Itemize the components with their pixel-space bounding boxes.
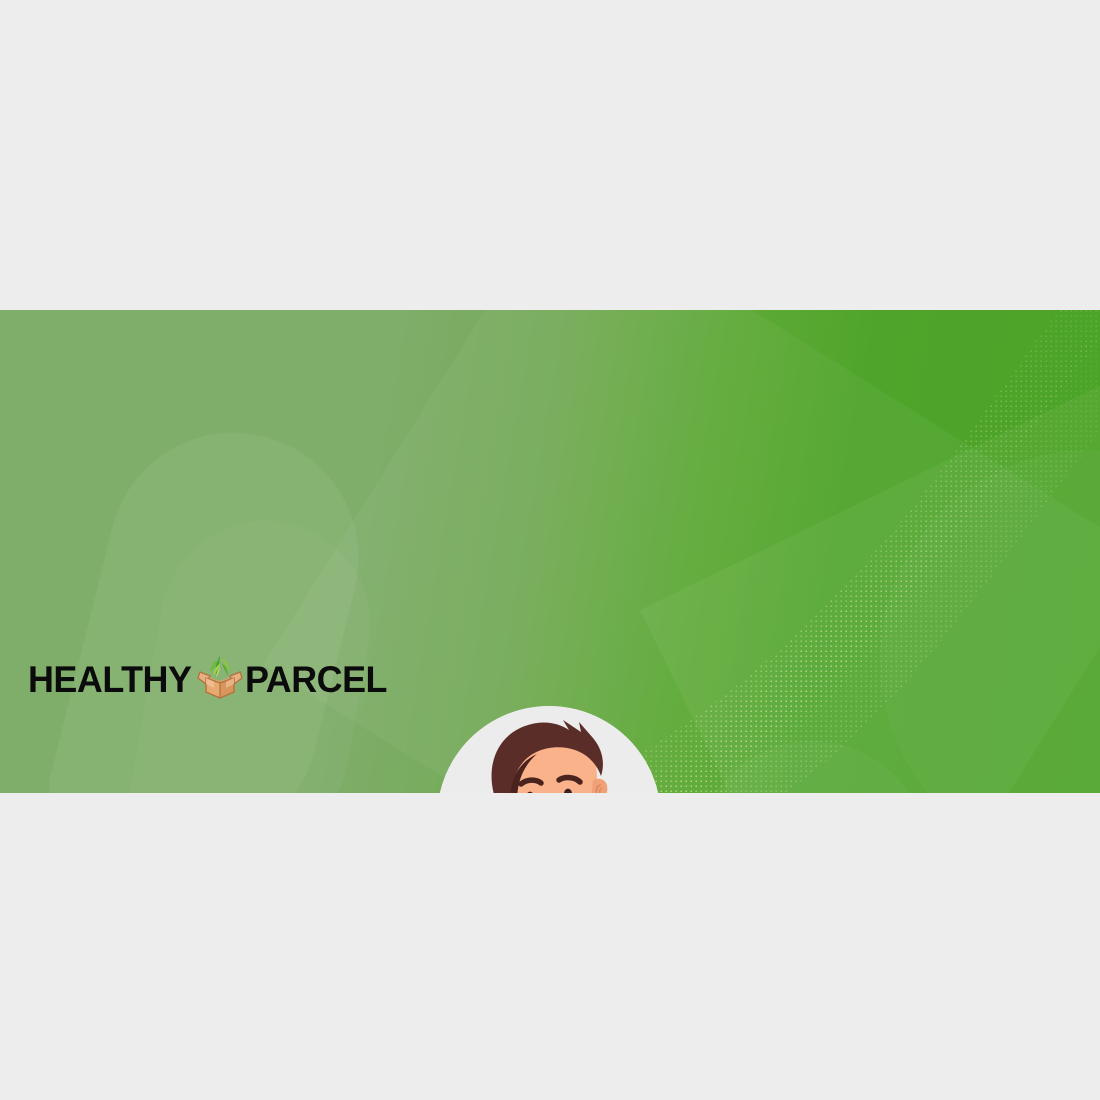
hero-banner: HEALTHY (0, 310, 1100, 793)
logo-word-parcel: PARCEL (245, 661, 387, 698)
illustration-disc (437, 706, 661, 793)
man-with-neck-pain-icon (437, 706, 661, 793)
meningitis-illustration (437, 706, 661, 793)
brand-logo[interactable]: HEALTHY (28, 657, 392, 701)
logo-word-healthy: HEALTHY (28, 661, 191, 698)
parcel-box-leaf-icon (192, 648, 248, 704)
